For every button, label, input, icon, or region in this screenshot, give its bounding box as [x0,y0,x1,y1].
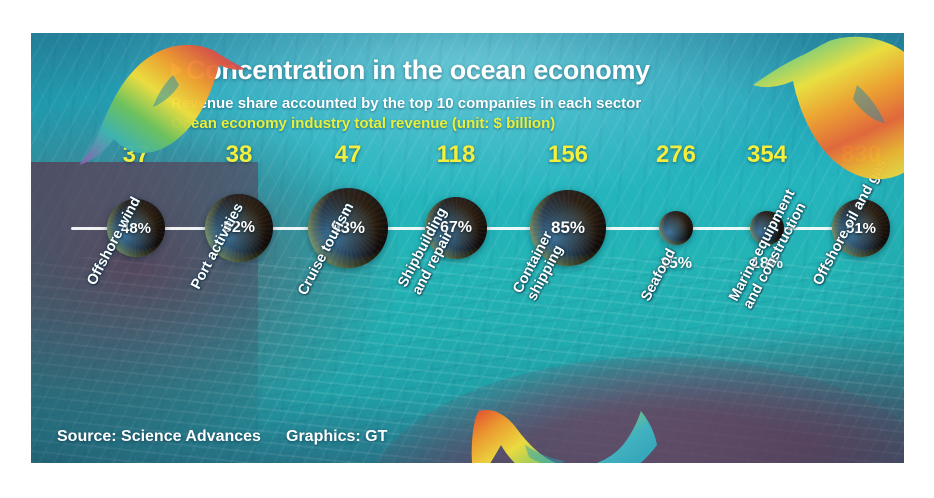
sector-label: Marine equipment and construction [727,187,813,311]
revenue-value: 276 [656,141,696,169]
revenue-value: 38 [226,141,253,169]
revenue-value: 118 [437,141,476,169]
infographic-panel: Concentration in the ocean economy Reven… [31,33,904,463]
graphics-credit: Graphics: GT [286,428,387,446]
bubble-chart: 3748%Offshore wind3882%Port activities47… [31,33,904,463]
sector-label: Seafood [639,246,680,304]
source-credit: Source: Science Advances [57,428,261,446]
revenue-value: 354 [747,141,787,169]
infographic-stage: Concentration in the ocean economy Reven… [0,0,934,498]
sector-label: Container shipping [511,229,570,303]
revenue-value: 37 [123,141,150,169]
share-bubble[interactable] [659,211,693,245]
revenue-value: 47 [335,141,362,169]
revenue-value: 156 [548,141,588,169]
